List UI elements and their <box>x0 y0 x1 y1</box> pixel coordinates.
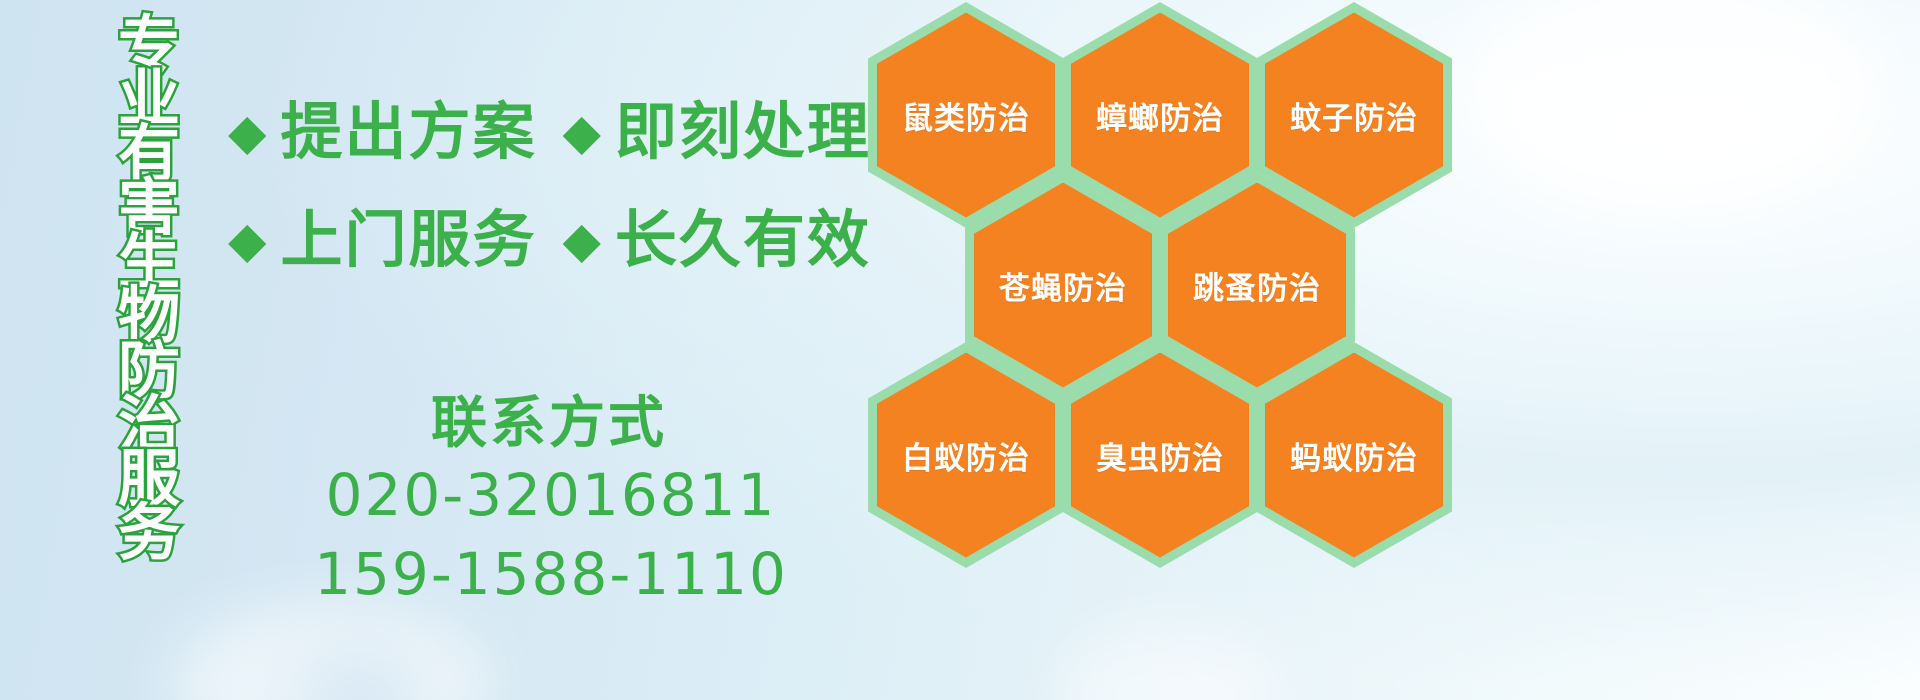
service-label: 苍蝇防治 <box>999 263 1127 308</box>
diamond-bullet-icon: ◆ <box>562 107 600 157</box>
diamond-bullet-icon: ◆ <box>562 215 600 265</box>
slogan-item: 提出方案 <box>280 101 536 163</box>
service-label: 白蚁防治 <box>902 433 1030 478</box>
service-label: 蚊子防治 <box>1290 93 1418 138</box>
diamond-bullet-icon: ◆ <box>228 215 266 265</box>
diamond-bullet-icon: ◆ <box>228 107 266 157</box>
promo-banner: 专 业 有 害 生 物 防 治 服 务 ◆ 提出方案 ◆ 即刻处理 ◆ 上门服务… <box>0 0 1920 700</box>
slogan-item: 长久有效 <box>615 209 871 271</box>
background-blob <box>1460 0 1880 220</box>
service-honeycomb: 鼠类防治 蟑螂防治 蚊子防治 苍蝇防治 跳蚤防治 白蚁防治 <box>862 0 1462 700</box>
hexagon-inner: 蚂蚁防治 <box>1265 353 1443 558</box>
hexagon-inner: 白蚁防治 <box>877 353 1055 558</box>
hexagon-inner: 苍蝇防治 <box>974 183 1152 388</box>
background-blob <box>170 600 490 700</box>
contact-block: 联系方式 020-32016811 159-1588-1110 <box>228 392 888 613</box>
service-label: 蟑螂防治 <box>1096 93 1224 138</box>
slogan-block: ◆ 提出方案 ◆ 即刻处理 ◆ 上门服务 ◆ 长久有效 <box>228 78 868 294</box>
vertical-headline-char: 务 <box>118 506 180 560</box>
service-label: 鼠类防治 <box>902 93 1030 138</box>
hexagon-inner: 跳蚤防治 <box>1168 183 1346 388</box>
hexagon-inner: 鼠类防治 <box>877 13 1055 218</box>
service-label: 蚂蚁防治 <box>1290 433 1418 478</box>
slogan-item: 上门服务 <box>280 209 536 271</box>
service-label: 臭虫防治 <box>1096 433 1224 478</box>
hexagon-inner: 臭虫防治 <box>1071 353 1249 558</box>
service-label: 跳蚤防治 <box>1193 263 1321 308</box>
hexagon-inner: 蟑螂防治 <box>1071 13 1249 218</box>
contact-title: 联系方式 <box>210 392 888 456</box>
slogan-item: 即刻处理 <box>615 101 871 163</box>
background-blob <box>300 650 420 700</box>
phone-number-landline[interactable]: 020-32016811 <box>214 456 888 534</box>
hexagon-inner: 蚊子防治 <box>1265 13 1443 218</box>
slogan-row: ◆ 提出方案 ◆ 即刻处理 <box>228 78 868 186</box>
slogan-row: ◆ 上门服务 ◆ 长久有效 <box>228 186 868 294</box>
phone-number-mobile[interactable]: 159-1588-1110 <box>214 535 888 613</box>
vertical-headline: 专 业 有 害 生 物 防 治 服 务 <box>104 18 194 561</box>
